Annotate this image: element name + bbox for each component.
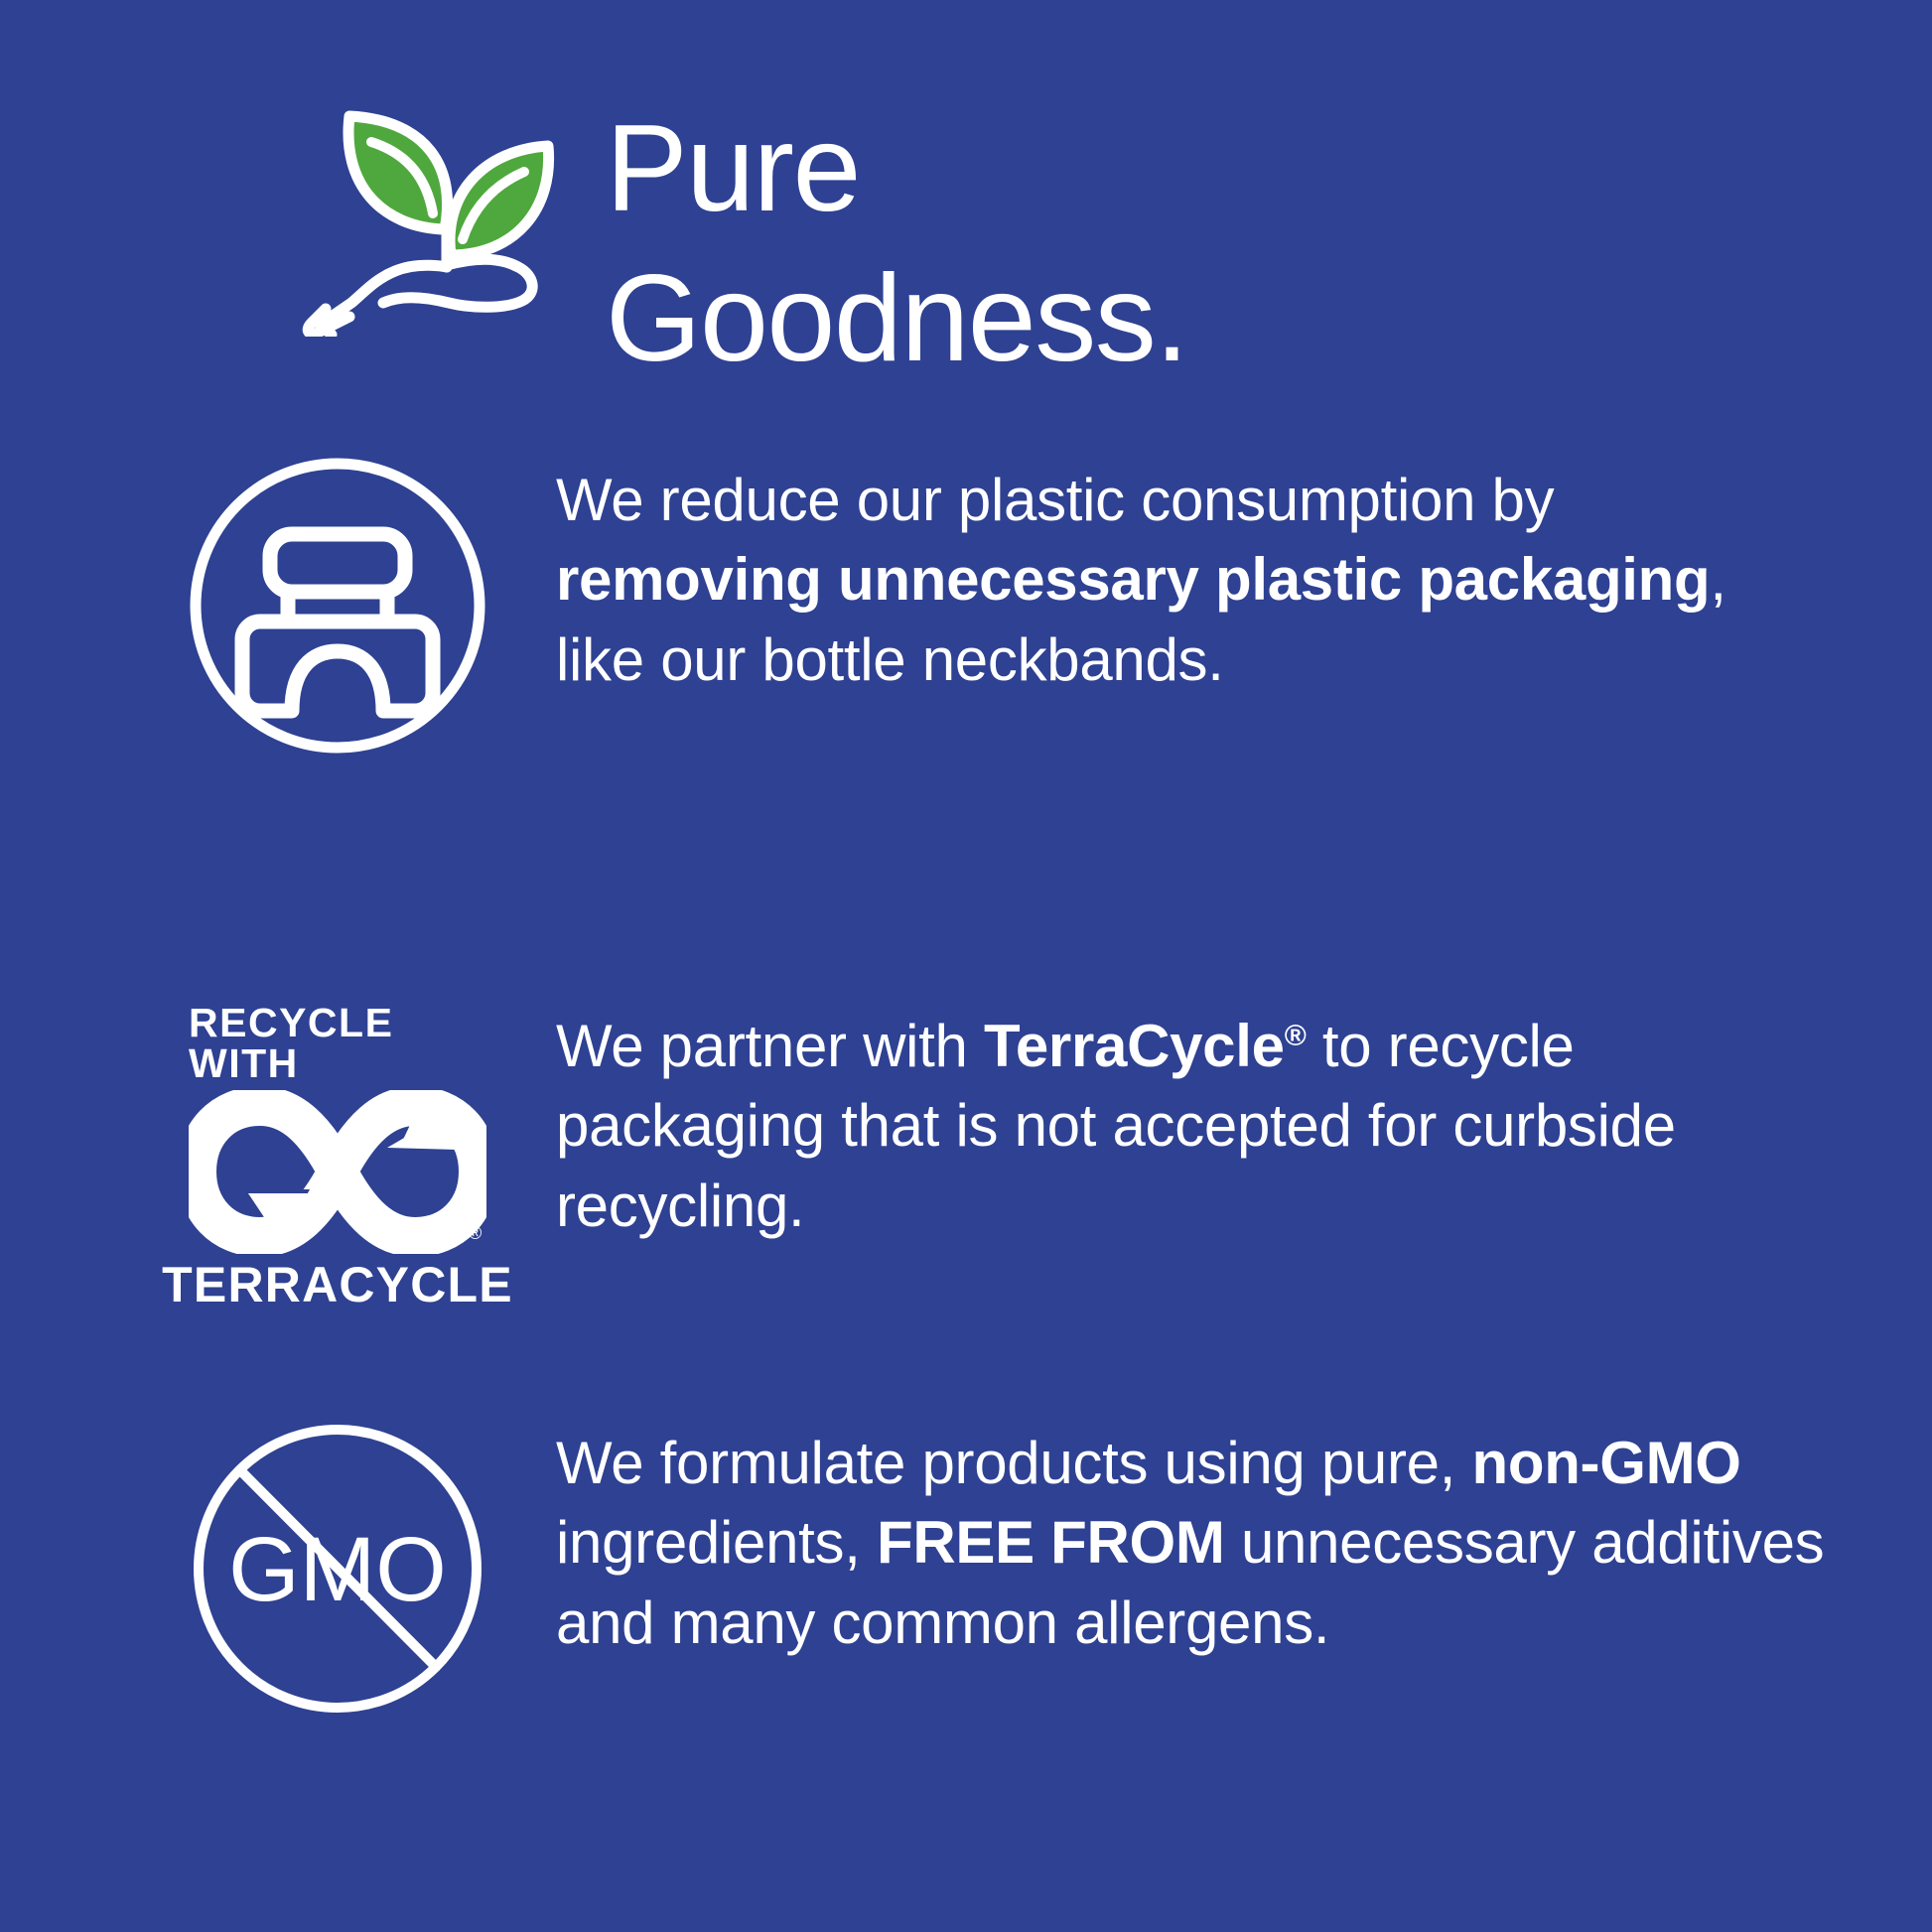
pure-goodness-infographic: Pure Goodness. We reduce our plastic con… (0, 0, 1932, 1932)
gmo-label: GMO (228, 1519, 447, 1620)
text-seg-bold: FREE FROM (877, 1509, 1225, 1576)
text-seg: We reduce our plastic consumption by (556, 467, 1554, 533)
header: Pure Goodness. (298, 94, 1688, 343)
terracycle-logo-wrap: RECYCLE WITH ® TERR (119, 1003, 556, 1310)
text-seg: We formulate products using pure, (556, 1430, 1472, 1496)
feature-row-terracycle: RECYCLE WITH ® TERR (119, 1003, 1827, 1310)
feature-row-plastic: We reduce our plastic consumption by rem… (119, 457, 1827, 755)
terracycle-logo-icon: RECYCLE WITH ® TERR (189, 1003, 486, 1310)
bottle-in-circle-icon (189, 457, 486, 755)
text-seg-bold: TerraCycle (984, 1013, 1285, 1079)
no-gmo-icon-wrap: GMO (119, 1420, 556, 1718)
terracycle-top-label: RECYCLE WITH (189, 1003, 486, 1084)
page-title: Pure Goodness. (606, 94, 1187, 395)
text-seg: ingredients, (556, 1509, 877, 1576)
feature-text-gmo: We formulate products using pure, non-GM… (556, 1420, 1827, 1663)
registered-mark: ® (1285, 1020, 1307, 1052)
feature-text-plastic: We reduce our plastic consumption by rem… (556, 457, 1827, 700)
feature-row-gmo: GMO We formulate products using pure, no… (119, 1420, 1827, 1718)
text-seg-bold: removing unnecessary plastic packaging (556, 546, 1710, 613)
feature-text-terracycle: We partner with TerraCycle® to recycle p… (556, 1003, 1827, 1246)
plant-in-hand-icon (298, 98, 576, 337)
text-seg: We partner with (556, 1013, 984, 1079)
terracycle-registered-mark: ® (469, 1223, 482, 1243)
bottle-in-circle-icon-wrap (119, 457, 556, 755)
infinity-recycle-arrows-icon: ® (189, 1090, 486, 1254)
text-seg-bold: non-GMO (1472, 1430, 1741, 1496)
terracycle-bottom-label: TERRACYCLE (162, 1260, 513, 1310)
no-gmo-icon: GMO (189, 1420, 486, 1718)
